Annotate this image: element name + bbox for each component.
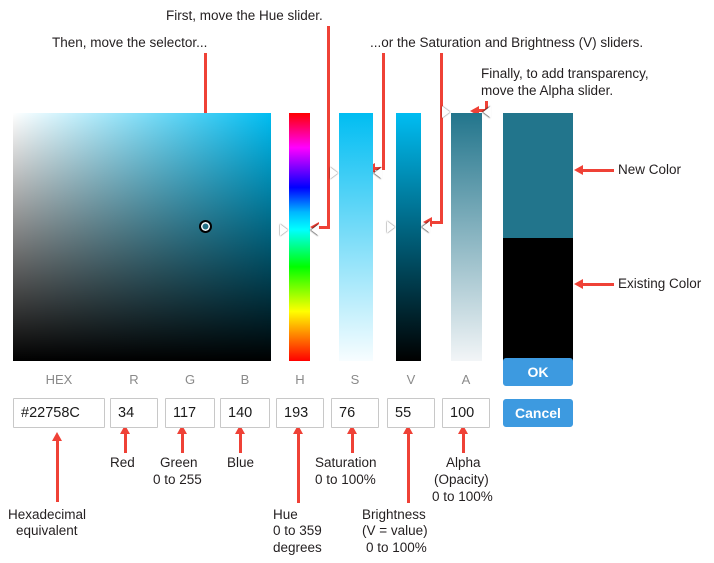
annotation-hue-line2: 0 to 359 <box>273 523 322 540</box>
saturation-input[interactable] <box>331 398 379 428</box>
annotation-green-line1: Green <box>160 455 198 472</box>
leader-line-saturation <box>382 53 385 169</box>
annotation-hex-line2: equivalent <box>16 523 78 540</box>
saturation-slider-handle-right[interactable] <box>374 167 382 179</box>
annotation-brightness-line2: (V = value) <box>362 523 428 540</box>
annotation-alpha-line2: move the Alpha slider. <box>481 83 613 100</box>
annotation-alpha-label-line3: 0 to 100% <box>432 489 493 506</box>
saturation-slider[interactable] <box>339 113 373 361</box>
leader-line-blue <box>239 433 242 453</box>
h-field-label: H <box>276 372 324 387</box>
annotation-blue: Blue <box>227 455 254 472</box>
annotation-selector: Then, move the selector... <box>52 35 207 52</box>
leader-line-brightness-field <box>407 433 410 503</box>
leader-line-green <box>181 433 184 453</box>
annotation-alpha-label-line2: (Opacity) <box>434 472 489 489</box>
leader-line-saturation-field <box>351 433 354 453</box>
arrowhead-existing-color <box>574 279 583 289</box>
annotation-hex-line1: Hexadecimal <box>8 507 86 524</box>
leader-line-new-color <box>582 169 614 172</box>
green-input[interactable] <box>165 398 215 428</box>
hue-input[interactable] <box>276 398 324 428</box>
annotation-saturation-brightness: ...or the Saturation and Brightness (V) … <box>370 35 643 52</box>
annotation-saturation-line1: Saturation <box>315 455 377 472</box>
s-field-label: S <box>331 372 379 387</box>
annotation-brightness-line3: 0 to 100% <box>366 540 427 557</box>
cancel-button[interactable]: Cancel <box>503 399 573 427</box>
leader-line-hue-h <box>318 226 330 229</box>
alpha-slider-handle-right[interactable] <box>483 106 491 118</box>
alpha-slider[interactable] <box>451 113 482 361</box>
existing-color-swatch[interactable] <box>503 238 573 361</box>
r-field-label: R <box>110 372 158 387</box>
red-input[interactable] <box>110 398 158 428</box>
saturation-value-box[interactable] <box>13 113 271 361</box>
annotation-brightness-line1: Brightness <box>362 507 426 524</box>
leader-line-hex <box>56 440 59 502</box>
v-field-label: V <box>387 372 435 387</box>
a-field-label: A <box>442 372 490 387</box>
annotation-existing-color: Existing Color <box>618 276 701 293</box>
brightness-input[interactable] <box>387 398 435 428</box>
leader-line-alpha-field <box>462 433 465 453</box>
blue-input[interactable] <box>220 398 270 428</box>
arrowhead-hex <box>52 432 62 441</box>
annotation-saturation-line2: 0 to 100% <box>315 472 376 489</box>
ok-button[interactable]: OK <box>503 358 573 386</box>
alpha-input[interactable] <box>442 398 490 428</box>
leader-line-brightness <box>440 53 443 223</box>
leader-line-brightness-h <box>431 221 443 224</box>
hex-input[interactable] <box>13 398 105 428</box>
annotation-hue-line3: degrees <box>273 540 322 557</box>
annotation-alpha-label-line1: Alpha <box>446 455 481 472</box>
hue-slider-handle-left[interactable] <box>280 224 288 236</box>
brightness-slider-handle-right[interactable] <box>422 221 430 233</box>
hue-slider[interactable] <box>289 113 310 361</box>
b-field-label: B <box>220 372 270 387</box>
annotation-green-line2: 0 to 255 <box>153 472 202 489</box>
annotation-new-color: New Color <box>618 162 681 179</box>
leader-line-red <box>124 433 127 453</box>
brightness-slider[interactable] <box>396 113 421 361</box>
arrowhead-new-color <box>574 165 583 175</box>
hue-slider-handle-right[interactable] <box>311 224 319 236</box>
saturation-slider-handle-left[interactable] <box>330 167 338 179</box>
alpha-slider-handle-left[interactable] <box>442 106 450 118</box>
leader-line-hue <box>327 26 330 228</box>
annotation-red: Red <box>110 455 135 472</box>
brightness-slider-handle-left[interactable] <box>387 221 395 233</box>
annotation-hue: First, move the Hue slider. <box>166 8 323 25</box>
color-preview-swatch <box>503 113 573 361</box>
color-selector-handle[interactable] <box>199 220 212 233</box>
new-color-swatch <box>503 113 573 238</box>
leader-line-hue-field <box>297 433 300 503</box>
g-field-label: G <box>165 372 215 387</box>
annotation-alpha-line1: Finally, to add transparency, <box>481 66 649 83</box>
leader-line-existing-color <box>582 283 614 286</box>
hex-field-label: HEX <box>13 372 105 387</box>
annotation-hue-line1: Hue <box>273 507 298 524</box>
